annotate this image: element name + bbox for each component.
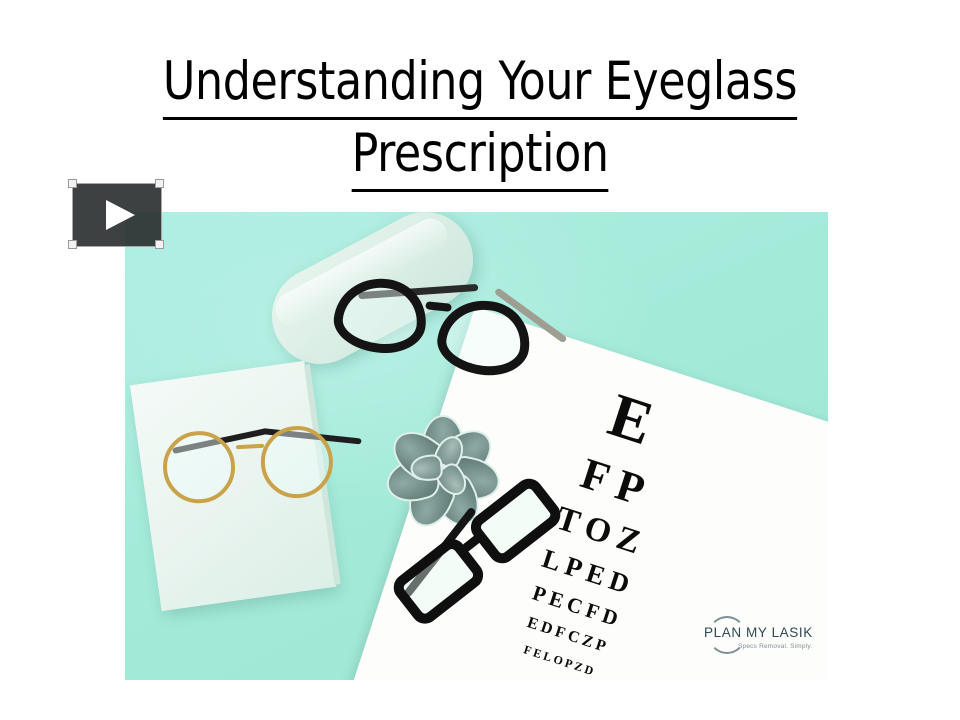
- selection-handle-bottom-left[interactable]: [68, 240, 77, 249]
- video-play-control[interactable]: [68, 179, 164, 249]
- page-title: Understanding Your Eyeglass Prescription: [60, 48, 900, 192]
- round-glasses-bridge: [236, 444, 264, 449]
- cat-eye-glasses-lens-left: [331, 274, 430, 357]
- round-glasses: [153, 417, 367, 514]
- selection-handle-top-left[interactable]: [68, 179, 77, 188]
- brand-logo: PLAN MY LASIK Specs Removal. Simply.: [702, 614, 820, 658]
- play-button[interactable]: [72, 183, 162, 247]
- selection-handle-top-right[interactable]: [155, 179, 164, 188]
- slide-photo[interactable]: E FP TOZ LPED PECFD EDFCZP FELOPZD: [125, 212, 828, 680]
- title-line-1: Understanding Your Eyeglass: [163, 48, 797, 120]
- title-line-2: Prescription: [352, 120, 609, 192]
- selection-handle-bottom-right[interactable]: [155, 240, 164, 249]
- rectangular-glasses-lens-right: [465, 473, 566, 569]
- play-icon: [106, 200, 135, 230]
- logo-tagline: Specs Removal. Simply.: [738, 643, 812, 650]
- cat-eye-glasses-bridge: [425, 301, 452, 312]
- logo-name: PLAN MY LASIK: [704, 625, 813, 640]
- slide-canvas: Understanding Your Eyeglass Prescription…: [0, 0, 960, 720]
